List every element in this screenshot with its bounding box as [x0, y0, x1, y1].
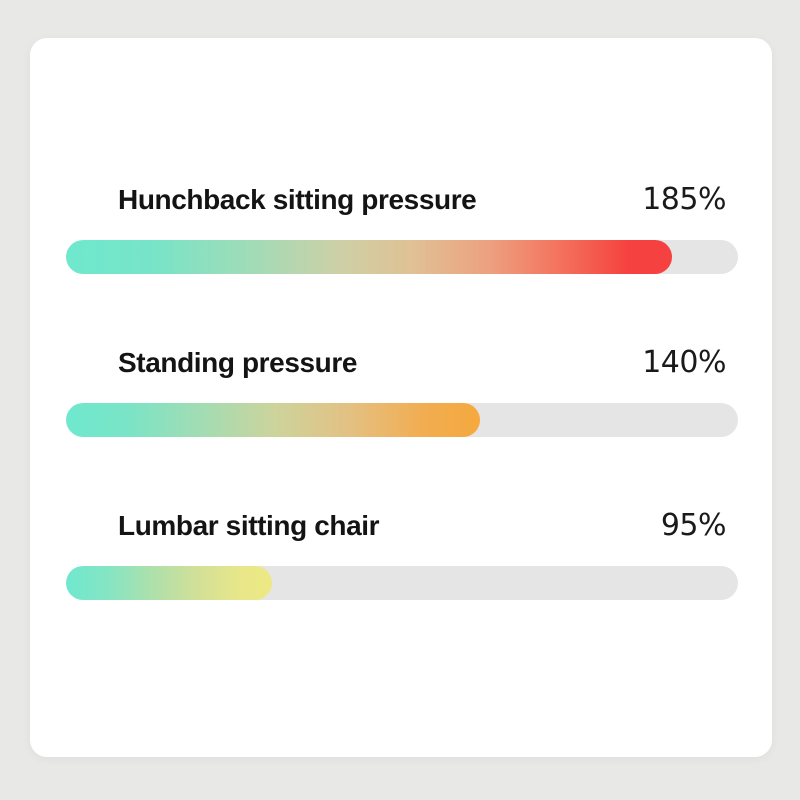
progress-row-value: 95%: [661, 504, 726, 548]
progress-track: [66, 403, 738, 437]
progress-row: Hunchback sitting pressure 185%: [66, 178, 738, 274]
progress-row: Lumbar sitting chair 95%: [66, 504, 738, 600]
progress-row-label: Lumbar sitting chair: [118, 504, 379, 548]
progress-row-label: Hunchback sitting pressure: [118, 178, 476, 222]
progress-row-label: Standing pressure: [118, 341, 357, 385]
progress-row-value: 140%: [642, 341, 726, 385]
screenshot-stage: Hunchback sitting pressure 185% Standing…: [0, 0, 800, 800]
progress-row: Standing pressure 140%: [66, 341, 738, 437]
comparison-card: Hunchback sitting pressure 185% Standing…: [30, 38, 772, 757]
progress-row-value: 185%: [642, 178, 726, 222]
progress-track: [66, 566, 738, 600]
progress-fill: [66, 403, 480, 437]
progress-track: [66, 240, 738, 274]
progress-fill: [66, 240, 672, 274]
progress-row-header: Hunchback sitting pressure 185%: [66, 178, 738, 222]
progress-fill: [66, 566, 272, 600]
progress-row-header: Standing pressure 140%: [66, 341, 738, 385]
progress-bar-list: Hunchback sitting pressure 185% Standing…: [66, 178, 738, 600]
progress-row-header: Lumbar sitting chair 95%: [66, 504, 738, 548]
